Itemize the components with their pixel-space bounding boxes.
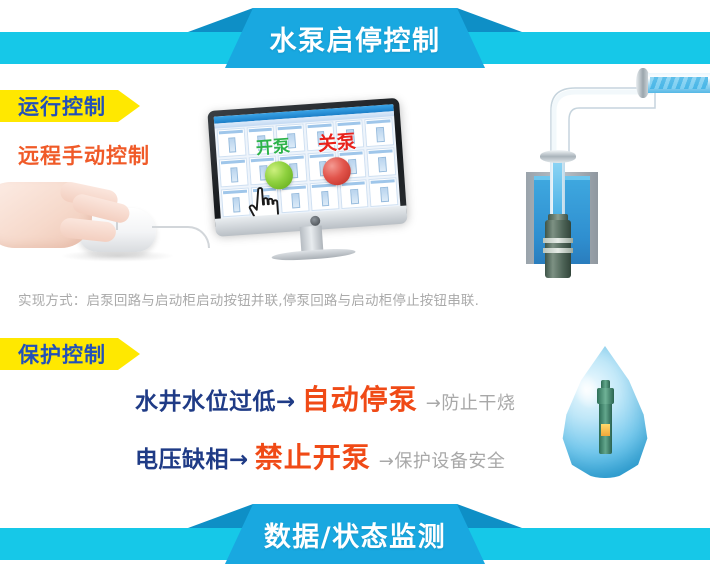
- rule-condition: 电压缺相→: [135, 440, 249, 474]
- scada-tile: [219, 158, 249, 188]
- rule-effect: →保护设备安全: [379, 447, 506, 473]
- remote-manual-control-text: 远程手动控制: [18, 140, 150, 170]
- scada-tile: [221, 187, 251, 217]
- bottom-banner: 数据/状态监测: [0, 496, 710, 564]
- hand-on-mouse-illustration: [0, 168, 185, 280]
- scada-tile: [337, 149, 367, 179]
- droplet-pump-shoulder: [597, 388, 614, 404]
- top-banner-title: 水泵启停控制: [270, 19, 441, 58]
- bottom-banner-center: 数据/状态监测: [225, 504, 485, 564]
- scada-tile: [365, 117, 395, 147]
- scada-tile: [369, 177, 399, 207]
- top-banner-right-wing: [457, 8, 522, 32]
- run-control-tag-label: 运行控制: [18, 91, 106, 121]
- implementation-note: 实现方式：启泵回路与启动柜启动按钮并联,停泵回路与启动柜停止按钮串联.: [18, 289, 479, 309]
- scada-panel-grid: [217, 117, 399, 217]
- scada-tile: [305, 121, 335, 151]
- protection-rule-row: 水井水位过低→ 自动停泵 →防止干烧: [135, 378, 515, 418]
- protection-rule-row: 电压缺相→ 禁止开泵 →保护设备安全: [135, 436, 505, 476]
- bottom-banner-title: 数据/状态监测: [264, 515, 446, 554]
- bottom-banner-right-wing: [457, 504, 522, 528]
- scada-tile: [246, 126, 276, 156]
- pump-band: [543, 248, 573, 253]
- monitor-screen: 开泵 关泵: [214, 104, 401, 219]
- rule-condition: 水井水位过低→: [135, 382, 296, 416]
- top-banner: 水泵启停控制: [0, 0, 710, 68]
- top-banner-left-wing: [188, 8, 253, 32]
- scada-tile: [217, 128, 247, 158]
- pipe-flange: [540, 150, 576, 163]
- scada-tile: [310, 181, 340, 211]
- scada-tile: [335, 119, 365, 149]
- run-control-tag: 运行控制: [0, 90, 118, 122]
- scada-tile: [276, 123, 306, 153]
- top-banner-center: 水泵启停控制: [225, 8, 485, 68]
- scada-tile: [367, 147, 397, 177]
- rule-action: 禁止开泵: [255, 436, 371, 476]
- scada-tile: [248, 155, 278, 185]
- droplet-pump: [597, 380, 614, 454]
- pump-band: [543, 238, 573, 243]
- outlet-pipe-water-flow: [650, 77, 708, 89]
- scada-tile: [307, 151, 337, 181]
- droplet-pump-label: [601, 424, 610, 436]
- mouse-cable: [152, 226, 210, 248]
- desktop-monitor-illustration: 开泵 关泵: [199, 97, 425, 282]
- water-droplet-with-pump-illustration: [545, 342, 665, 490]
- protection-control-tag-label: 保护控制: [18, 339, 106, 369]
- submersible-pump-in-well-illustration: [498, 62, 710, 276]
- rule-action: 自动停泵: [302, 378, 418, 418]
- scada-tile: [280, 183, 310, 213]
- scada-tile: [278, 153, 308, 183]
- scada-tile: [339, 179, 369, 209]
- bottom-banner-left-wing: [188, 504, 253, 528]
- protection-control-tag: 保护控制: [0, 338, 118, 370]
- rule-effect: →防止干烧: [426, 389, 516, 415]
- monitor-stand-base: [271, 247, 355, 262]
